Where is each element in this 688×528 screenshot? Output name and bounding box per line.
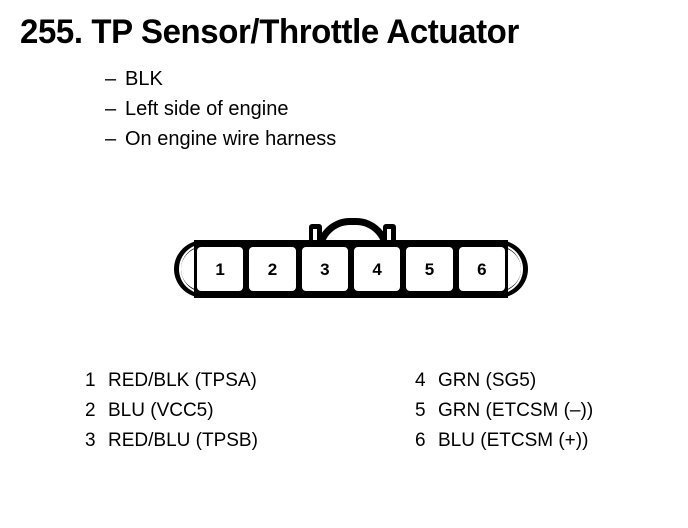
pin-legend-row: 2 BLU (VCC5) bbox=[85, 396, 258, 426]
pin-legend-number: 6 bbox=[415, 426, 438, 456]
note-dash-icon: – bbox=[105, 124, 125, 154]
note-label: On engine wire harness bbox=[125, 128, 336, 150]
pin-legend-wire: BLU (ETCSM (+)) bbox=[438, 426, 588, 456]
note-label: Left side of engine bbox=[125, 98, 288, 120]
connector-pin-cell: 3 bbox=[302, 247, 348, 291]
pin-legend-wire: BLU (VCC5) bbox=[108, 396, 214, 426]
connector-pin-cell: 6 bbox=[459, 247, 505, 291]
connector-pin-cell: 1 bbox=[197, 247, 243, 291]
pin-legend-right-column: 4 GRN (SG5) 5 GRN (ETCSM (–)) 6 BLU (ETC… bbox=[415, 366, 593, 456]
pin-legend-wire: RED/BLK (TPSA) bbox=[108, 366, 257, 396]
connector-pin-cell: 2 bbox=[249, 247, 295, 291]
pin-legend-number: 4 bbox=[415, 366, 438, 396]
pin-legend-number: 3 bbox=[85, 426, 108, 456]
connector-diagram: 1 2 3 4 5 6 bbox=[168, 214, 536, 306]
pin-legend-row: 6 BLU (ETCSM (+)) bbox=[415, 426, 593, 456]
page-title: 255. TP Sensor/Throttle Actuator bbox=[20, 12, 519, 52]
pin-legend-row: 1 RED/BLK (TPSA) bbox=[85, 366, 258, 396]
pin-legend-wire: GRN (ETCSM (–)) bbox=[438, 396, 593, 426]
connector-pin-cell: 5 bbox=[406, 247, 452, 291]
pin-legend-number: 5 bbox=[415, 396, 438, 426]
note-dash-icon: – bbox=[105, 94, 125, 124]
notes-list: –BLK –Left side of engine –On engine wir… bbox=[105, 64, 336, 154]
connector-pin-row: 1 2 3 4 5 6 bbox=[194, 240, 508, 298]
pin-legend-wire: GRN (SG5) bbox=[438, 366, 536, 396]
connector-pin-cell: 4 bbox=[354, 247, 400, 291]
pin-legend-row: 3 RED/BLU (TPSB) bbox=[85, 426, 258, 456]
note-item: –BLK bbox=[105, 64, 336, 94]
diagram-page: 255. TP Sensor/Throttle Actuator –BLK –L… bbox=[0, 0, 688, 528]
note-item: –Left side of engine bbox=[105, 94, 336, 124]
pin-legend-left-column: 1 RED/BLK (TPSA) 2 BLU (VCC5) 3 RED/BLU … bbox=[85, 366, 258, 456]
pin-legend-number: 2 bbox=[85, 396, 108, 426]
pin-legend-number: 1 bbox=[85, 366, 108, 396]
pin-legend-row: 5 GRN (ETCSM (–)) bbox=[415, 396, 593, 426]
note-item: –On engine wire harness bbox=[105, 124, 336, 154]
note-label: BLK bbox=[125, 68, 163, 90]
pin-legend-wire: RED/BLU (TPSB) bbox=[108, 426, 258, 456]
pin-legend-row: 4 GRN (SG5) bbox=[415, 366, 593, 396]
note-dash-icon: – bbox=[105, 64, 125, 94]
